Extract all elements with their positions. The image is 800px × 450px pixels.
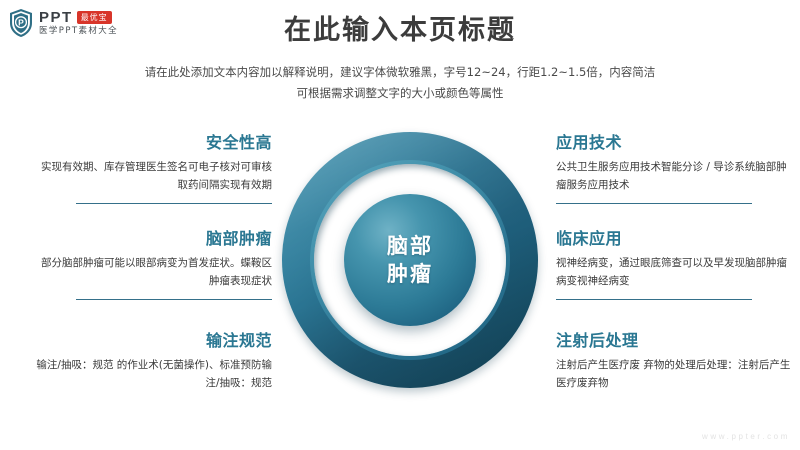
center-ring-graphic: 脑部 肿瘤 bbox=[282, 132, 538, 388]
item-body: 部分脑部肿瘤可能以眼部病变为首发症状。蝶鞍区肿瘤表现症状 bbox=[34, 254, 272, 290]
content-item-left-3[interactable]: 输注规范 输注/抽吸：规范 的作业术(无菌操作)、标准预防输注/抽吸：规范 bbox=[34, 330, 272, 392]
page-title: 在此输入本页标题 bbox=[0, 14, 800, 48]
footer-watermark: www.ppter.com bbox=[702, 432, 790, 441]
content-item-right-2[interactable]: 临床应用 视神经病变，通过眼底筛查可以及早发现脑部肿瘤病变视神经病变 bbox=[556, 228, 794, 300]
content-item-left-2[interactable]: 脑部肿瘤 部分脑部肿瘤可能以眼部病变为首发症状。蝶鞍区肿瘤表现症状 bbox=[34, 228, 272, 300]
content-item-right-1[interactable]: 应用技术 公共卫生服务应用技术智能分诊 / 导诊系统脑部肿瘤服务应用技术 bbox=[556, 132, 794, 204]
page-subtitle: 请在此处添加文本内容加以解释说明，建议字体微软雅黑，字号12~24，行距1.2~… bbox=[0, 62, 800, 104]
item-divider bbox=[556, 299, 752, 300]
item-title: 脑部肿瘤 bbox=[34, 228, 272, 250]
center-sphere[interactable]: 脑部 肿瘤 bbox=[344, 194, 476, 326]
center-sphere-line-1: 脑部 bbox=[387, 232, 433, 260]
item-title: 安全性高 bbox=[34, 132, 272, 154]
subtitle-line-2: 可根据需求调整文字的大小或颜色等属性 bbox=[0, 83, 800, 104]
item-divider bbox=[76, 299, 272, 300]
item-body: 注射后产生医疗废 弃物的处理后处理：注射后产生医疗废弃物 bbox=[556, 356, 794, 392]
center-sphere-line-2: 肿瘤 bbox=[387, 260, 433, 288]
subtitle-line-1: 请在此处添加文本内容加以解释说明，建议字体微软雅黑，字号12~24，行距1.2~… bbox=[0, 62, 800, 83]
item-body: 实现有效期、库存管理医生签名可电子核对可审核取药间隔实现有效期 bbox=[34, 158, 272, 194]
content-item-right-3[interactable]: 注射后处理 注射后产生医疗废 弃物的处理后处理：注射后产生医疗废弃物 bbox=[556, 330, 794, 392]
item-title: 临床应用 bbox=[556, 228, 794, 250]
item-body: 视神经病变，通过眼底筛查可以及早发现脑部肿瘤病变视神经病变 bbox=[556, 254, 794, 290]
item-title: 应用技术 bbox=[556, 132, 794, 154]
item-title: 输注规范 bbox=[34, 330, 272, 352]
item-body: 公共卫生服务应用技术智能分诊 / 导诊系统脑部肿瘤服务应用技术 bbox=[556, 158, 794, 194]
item-divider bbox=[556, 203, 752, 204]
item-body: 输注/抽吸：规范 的作业术(无菌操作)、标准预防输注/抽吸：规范 bbox=[34, 356, 272, 392]
content-item-left-1[interactable]: 安全性高 实现有效期、库存管理医生签名可电子核对可审核取药间隔实现有效期 bbox=[34, 132, 272, 204]
item-title: 注射后处理 bbox=[556, 330, 794, 352]
item-divider bbox=[76, 203, 272, 204]
